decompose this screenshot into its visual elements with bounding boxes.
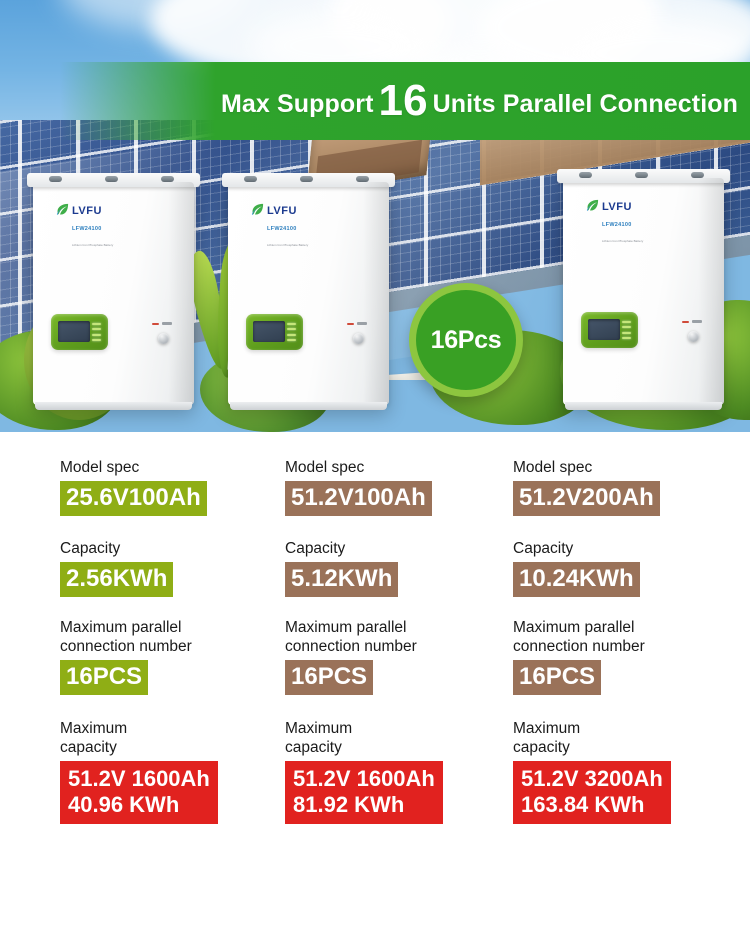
negative-terminal-mark [162, 322, 172, 325]
spec-value-max-capacity: 51.2V 3200Ah 163.84 KWh [513, 761, 671, 824]
power-knob[interactable] [688, 331, 699, 342]
led [622, 337, 631, 339]
led [622, 332, 631, 334]
spec-label-parallel: Maximum parallel connection number [513, 618, 743, 656]
battery-unit-1: LVFU LFW24100 Lithium Iron Phosphate Bat… [33, 182, 194, 405]
led [92, 339, 101, 341]
spec-value-model: 25.6V100Ah [60, 481, 207, 516]
spec-row-max-capacity: Maximum capacity 51.2V 3200Ah 163.84 KWh [513, 719, 743, 824]
lcd-screen [588, 319, 620, 340]
spec-row-capacity: Capacity 5.12KWh [285, 539, 515, 597]
spec-row-parallel: Maximum parallel connection number 16PCS [285, 618, 515, 695]
spec-row-capacity: Capacity 2.56KWh [60, 539, 290, 597]
spec-value-max-capacity: 51.2V 1600Ah 81.92 KWh [285, 761, 443, 824]
quantity-badge: 16Pcs [409, 283, 523, 397]
spec-label-capacity: Capacity [60, 539, 290, 558]
battery-unit-2: LVFU LFW24100 Lithium Iron Phosphate Bat… [228, 182, 389, 405]
brand-logo: LVFU LFW24100 Lithium Iron Phosphate Bat… [585, 198, 643, 246]
mount-bracket [49, 176, 62, 182]
led [287, 339, 296, 341]
logo-tagline: Lithium Iron Phosphate Battery [72, 243, 113, 247]
brand-logo: LVFU LFW24100 Lithium Iron Phosphate Bat… [250, 202, 308, 250]
battery-side-shade [698, 178, 724, 405]
spec-value-capacity: 10.24KWh [513, 562, 640, 597]
led [287, 328, 296, 330]
spec-value-parallel: 16PCS [60, 660, 148, 695]
spec-label-capacity: Capacity [513, 539, 743, 558]
mount-bracket [105, 176, 118, 182]
headline-banner-inner: Max Support16Units Parallel Connection [0, 62, 750, 140]
battery-base [230, 402, 387, 410]
mount-bracket [579, 172, 592, 178]
spec-row-parallel: Maximum parallel connection number 16PCS [60, 618, 290, 695]
spec-row-max-capacity: Maximum capacity 51.2V 1600Ah 81.92 KWh [285, 719, 515, 824]
lcd-screen [58, 321, 90, 342]
lcd-panel[interactable] [51, 314, 108, 350]
led [622, 321, 631, 323]
spec-label-parallel: Maximum parallel connection number [285, 618, 515, 656]
logo-brand: LVFU [267, 205, 297, 217]
battery-side-shade [168, 182, 194, 405]
headline-suffix: Units Parallel Connection [433, 90, 738, 118]
logo-model-code: LFW24100 [602, 222, 632, 228]
mount-bracket [300, 176, 313, 182]
spec-row-max-capacity: Maximum capacity 51.2V 1600Ah 40.96 KWh [60, 719, 290, 824]
spec-label-max-capacity: Maximum capacity [60, 719, 290, 757]
headline-prefix: Max Support [221, 90, 374, 118]
positive-terminal-mark [682, 321, 689, 323]
logo-text: LVFU LFW24100 Lithium Iron Phosphate Bat… [602, 198, 643, 246]
quantity-badge-inner: 16Pcs [416, 290, 516, 390]
headline-text: Max Support16Units Parallel Connection [221, 79, 738, 123]
spec-label-model: Model spec [60, 458, 290, 477]
logo-text: LVFU LFW24100 Lithium Iron Phosphate Bat… [72, 202, 113, 250]
spec-row-model: Model spec 51.2V100Ah [285, 458, 515, 516]
headline-banner: Max Support16Units Parallel Connection [0, 62, 750, 140]
logo-model-code: LFW24100 [267, 226, 297, 232]
hero-photo: LVFU LFW24100 Lithium Iron Phosphate Bat… [0, 0, 750, 432]
spec-value-model: 51.2V100Ah [285, 481, 432, 516]
logo-tagline: Lithium Iron Phosphate Battery [602, 239, 643, 243]
positive-terminal-mark [347, 323, 354, 325]
terminal-markings [682, 320, 702, 323]
led [92, 323, 101, 325]
quantity-badge-label: 16Pcs [431, 326, 502, 355]
spec-label-capacity: Capacity [285, 539, 515, 558]
terminal-markings [347, 322, 367, 325]
led [287, 323, 296, 325]
spec-row-model: Model spec 25.6V100Ah [60, 458, 290, 516]
spec-value-parallel: 16PCS [285, 660, 373, 695]
led [287, 334, 296, 336]
lcd-screen [253, 321, 285, 342]
lcd-panel[interactable] [581, 312, 638, 348]
negative-terminal-mark [357, 322, 367, 325]
led [622, 326, 631, 328]
battery-side-shade [363, 182, 389, 405]
positive-terminal-mark [152, 323, 159, 325]
negative-terminal-mark [692, 320, 702, 323]
spec-label-model: Model spec [513, 458, 743, 477]
spec-value-max-capacity: 51.2V 1600Ah 40.96 KWh [60, 761, 218, 824]
brand-logo: LVFU LFW24100 Lithium Iron Phosphate Bat… [55, 202, 113, 250]
spec-row-model: Model spec 51.2V200Ah [513, 458, 743, 516]
mount-bracket [635, 172, 648, 178]
leaf-icon [585, 198, 600, 213]
battery-base [565, 402, 722, 410]
spec-label-max-capacity: Maximum capacity [513, 719, 743, 757]
logo-tagline: Lithium Iron Phosphate Battery [267, 243, 308, 247]
spec-table: Model spec 25.6V100Ah Capacity 2.56KWh M… [0, 432, 750, 944]
logo-text: LVFU LFW24100 Lithium Iron Phosphate Bat… [267, 202, 308, 250]
spec-value-model: 51.2V200Ah [513, 481, 660, 516]
spec-value-capacity: 2.56KWh [60, 562, 173, 597]
spec-label-max-capacity: Maximum capacity [285, 719, 515, 757]
leaf-icon [55, 202, 70, 217]
mount-bracket [244, 176, 257, 182]
lcd-panel[interactable] [246, 314, 303, 350]
spec-label-parallel: Maximum parallel connection number [60, 618, 290, 656]
spec-row-capacity: Capacity 10.24KWh [513, 539, 743, 597]
spec-value-parallel: 16PCS [513, 660, 601, 695]
led [92, 328, 101, 330]
led-indicators [287, 323, 296, 341]
spec-value-capacity: 5.12KWh [285, 562, 398, 597]
spec-row-parallel: Maximum parallel connection number 16PCS [513, 618, 743, 695]
power-knob[interactable] [353, 333, 364, 344]
terminal-markings [152, 322, 172, 325]
led-indicators [622, 321, 631, 339]
leaf-icon [250, 202, 265, 217]
logo-model-code: LFW24100 [72, 226, 102, 232]
led [92, 334, 101, 336]
headline-number: 16 [374, 76, 433, 125]
logo-brand: LVFU [72, 205, 102, 217]
battery-base [35, 402, 192, 410]
spec-label-model: Model spec [285, 458, 515, 477]
logo-brand: LVFU [602, 201, 632, 213]
power-knob[interactable] [158, 333, 169, 344]
led-indicators [92, 323, 101, 341]
battery-unit-3: LVFU LFW24100 Lithium Iron Phosphate Bat… [563, 178, 724, 405]
product-infographic: LVFU LFW24100 Lithium Iron Phosphate Bat… [0, 0, 750, 944]
